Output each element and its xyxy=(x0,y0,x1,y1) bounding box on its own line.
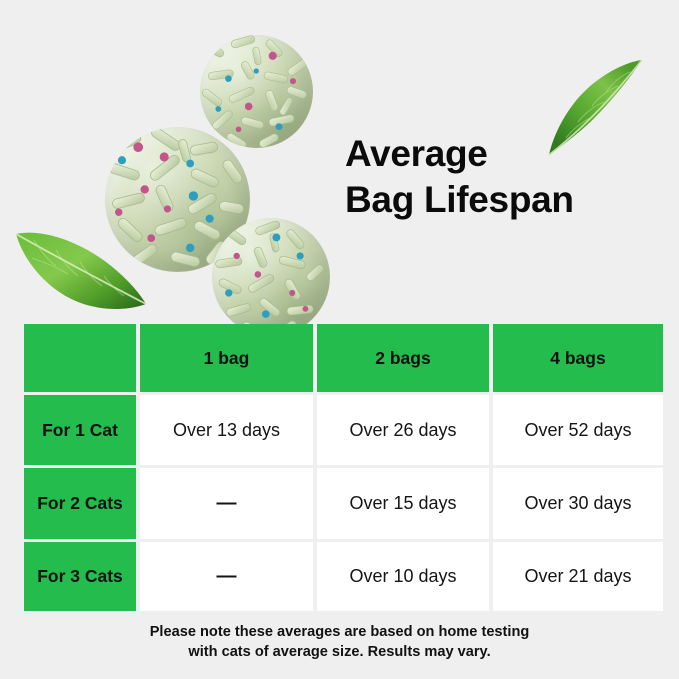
leaf-icon xyxy=(4,218,154,324)
row-label-for-2-cats: For 2 Cats xyxy=(24,468,136,539)
page-title-line-2: Bag Lifespan xyxy=(345,177,665,223)
bag-lifespan-table: 1 bag 2 bags 4 bags For 1 Cat Over 13 da… xyxy=(24,324,655,602)
cell-3cats-1bag: — xyxy=(140,542,313,611)
row-label-for-1-cat: For 1 Cat xyxy=(24,395,136,465)
page-title-line-1: Average xyxy=(345,131,665,177)
tea-leaf-left xyxy=(4,218,154,324)
cell-1cat-2bags: Over 26 days xyxy=(317,395,489,465)
cell-1cat-1bag: Over 13 days xyxy=(140,395,313,465)
footnote-disclaimer: Please note these averages are based on … xyxy=(0,622,679,662)
table-corner-cell xyxy=(24,324,136,392)
column-header-2-bags: 2 bags xyxy=(317,324,489,392)
footnote-line-2: with cats of average size. Results may v… xyxy=(0,642,679,662)
footnote-line-1: Please note these averages are based on … xyxy=(0,622,679,642)
page-title: Average Bag Lifespan xyxy=(345,131,665,223)
cell-2cats-2bags: Over 15 days xyxy=(317,468,489,539)
column-header-4-bags: 4 bags xyxy=(493,324,663,392)
cell-1cat-4bags: Over 52 days xyxy=(493,395,663,465)
row-label-for-3-cats: For 3 Cats xyxy=(24,542,136,611)
cell-2cats-1bag: — xyxy=(140,468,313,539)
column-header-1-bag: 1 bag xyxy=(140,324,313,392)
cell-3cats-4bags: Over 21 days xyxy=(493,542,663,611)
litter-grain-texture-icon xyxy=(212,218,330,336)
infographic-canvas: Average Bag Lifespan 1 bag 2 bags 4 bags… xyxy=(0,0,679,679)
cell-2cats-4bags: Over 30 days xyxy=(493,468,663,539)
litter-clump-ball-right xyxy=(212,218,330,336)
cell-3cats-2bags: Over 10 days xyxy=(317,542,489,611)
